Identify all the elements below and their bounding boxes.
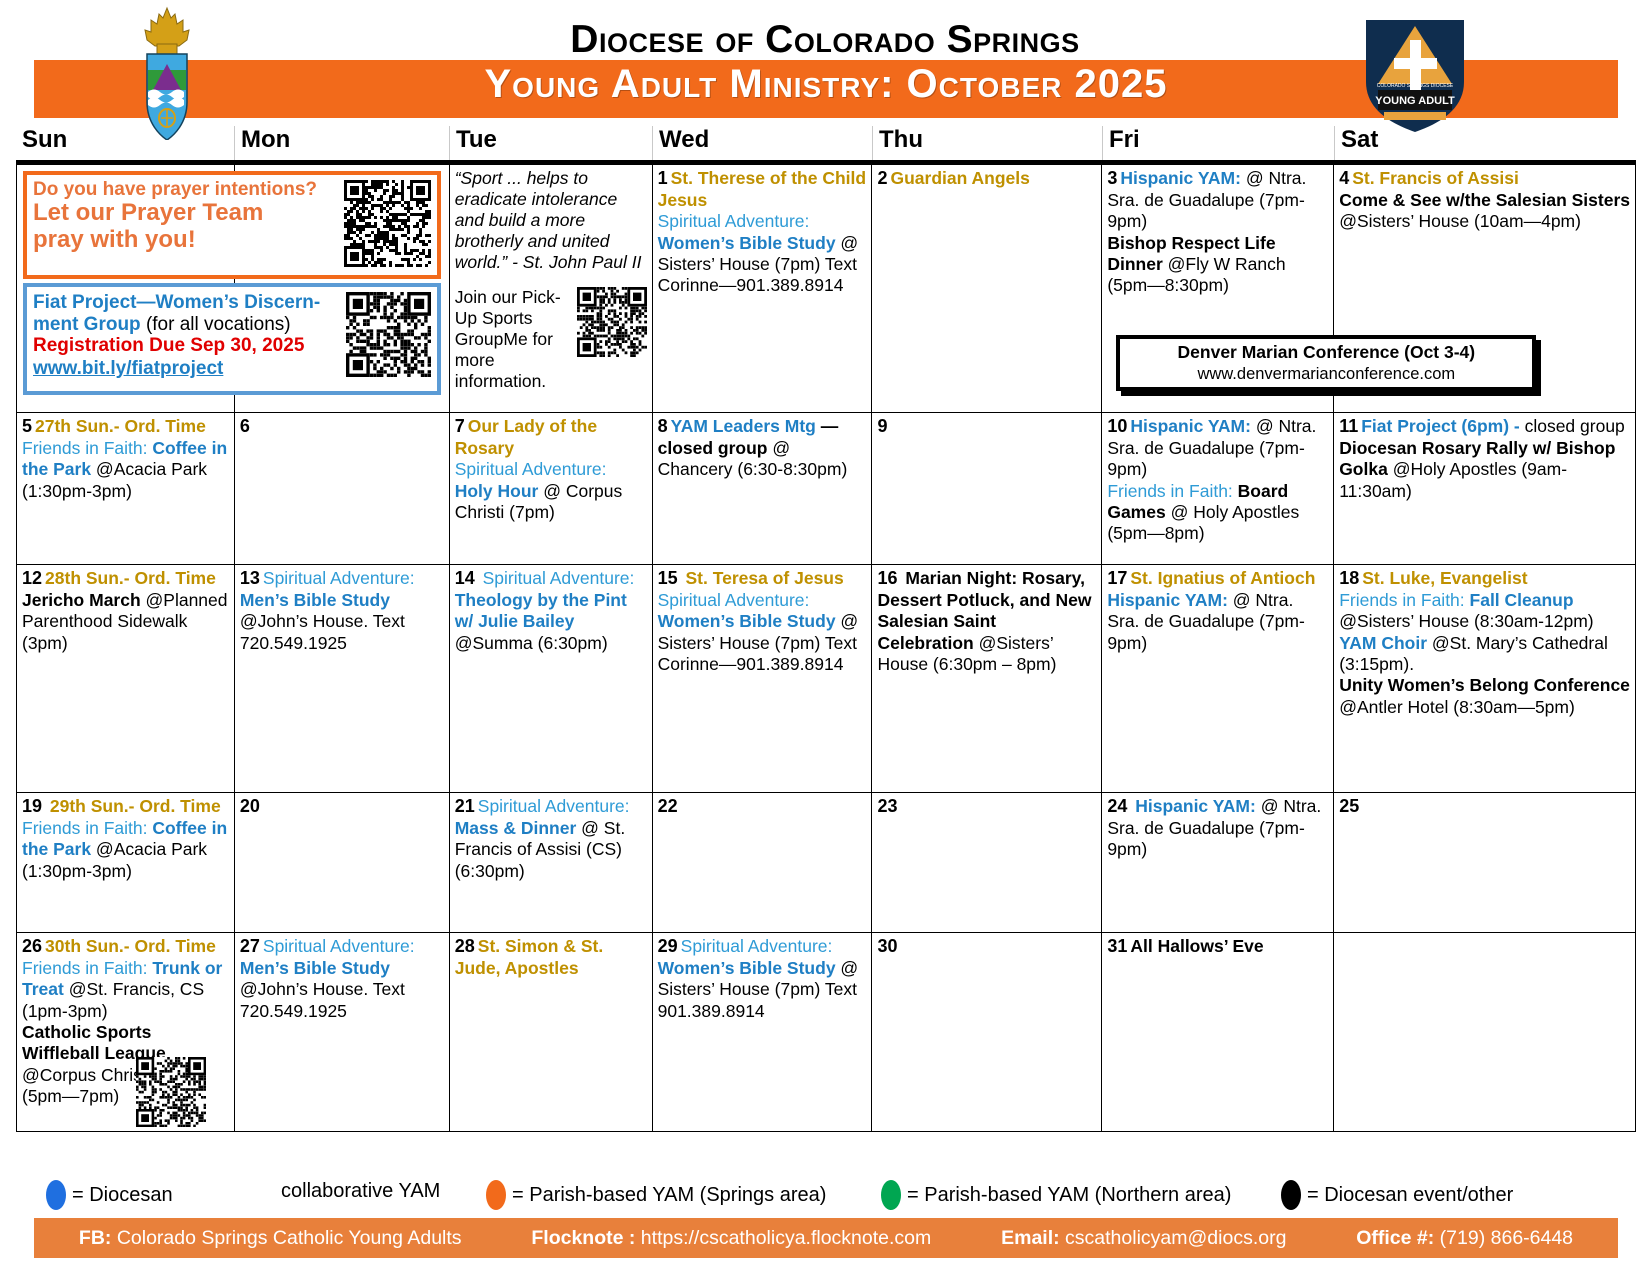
diocese-crest-icon (117, 6, 217, 140)
prayer-team-promo[interactable]: Do you have prayer intentions? Let our P… (23, 171, 441, 279)
event-line[interactable]: Hispanic YAM: @ Ntra. Sra. de Guadalupe … (1107, 168, 1306, 231)
event-line[interactable]: St. Simon & St. Jude, Apostles (455, 936, 603, 978)
event-line[interactable]: Unity Women’s Belong Conference @Antler … (1339, 675, 1630, 716)
weekday-sat: Sat (1334, 126, 1636, 160)
day-cell-31[interactable]: 31All Hallows’ Eve (1102, 933, 1334, 1132)
day-cell-empty[interactable]: “Sport ... helps to eradicate intoleranc… (450, 165, 653, 413)
fiat-project-promo[interactable]: Fiat Project—Women’s Discern- ment Group… (23, 283, 441, 395)
day-cell-23[interactable]: 23 (872, 793, 1102, 933)
event-text-segment: All Hallows’ Eve (1130, 936, 1263, 956)
pickup-sports-qr-code[interactable] (577, 287, 647, 357)
prayer-promo-line3: pray with you! (33, 227, 344, 254)
day-cell-empty[interactable]: Do you have prayer intentions? Let our P… (17, 165, 235, 413)
day-number: 31 (1107, 936, 1127, 956)
day-number: 1 (658, 168, 668, 188)
event-line[interactable]: Our Lady of the Rosary (455, 416, 597, 458)
footer-office-label: Office #: (1356, 1227, 1434, 1249)
event-text-segment: 29th Sun.- Ord. Time (45, 796, 221, 816)
event-line[interactable]: St. Teresa of Jesus (681, 568, 844, 588)
legend-label: = Parish-based YAM (Springs area) (512, 1184, 826, 1207)
event-line[interactable]: Spiritual Adventure: Women’s Bible Study… (658, 211, 859, 295)
legend-label: collaborative YAM (281, 1180, 440, 1203)
legend-color-dot (881, 1180, 901, 1210)
event-line[interactable]: 28th Sun.- Ord. Time (45, 568, 216, 588)
day-cell-18[interactable]: 18St. Luke, EvangelistFriends in Faith: … (1334, 565, 1636, 793)
fiat-link[interactable]: www.bit.ly/fiatproject (33, 358, 346, 381)
event-text-segment: Fiat Project (6pm) - (1361, 416, 1520, 436)
day-number: 22 (658, 796, 678, 816)
day-number: 13 (240, 568, 260, 588)
event-text-segment: Friends in Faith: (1107, 481, 1237, 501)
day-number: 18 (1339, 568, 1359, 588)
weekday-tue: Tue (449, 126, 652, 160)
legend-item-3: = Parish-based YAM (Northern area) (881, 1180, 1231, 1210)
day-number: 15 (658, 568, 678, 588)
young-adult-shield-icon: YOUNG ADULT COLORADO SPRINGS DIOCESE (1360, 14, 1470, 132)
promo-stack: Do you have prayer intentions? Let our P… (23, 171, 441, 391)
prayer-promo-line2: Let our Prayer Team (33, 200, 344, 227)
footer-fb-value: Colorado Springs Catholic Young Adults (111, 1227, 461, 1249)
event-text-segment: Spiritual Adventure: (478, 568, 635, 588)
event-line[interactable]: Friends in Faith: Trunk or Treat @St. Fr… (22, 958, 222, 1021)
day-cell-6[interactable]: 6 (235, 413, 450, 565)
day-cell-empty[interactable] (1334, 933, 1636, 1132)
day-number: 20 (240, 796, 260, 816)
event-line[interactable]: YAM Choir @St. Mary’s Cathedral (3:15pm)… (1339, 633, 1608, 674)
dmc-title: Denver Marian Conference (Oct 3-4) (1178, 342, 1476, 363)
wiffleball-qr-code[interactable] (136, 1057, 206, 1127)
event-text-segment: Men’s Bible Study (240, 958, 390, 978)
day-cell-24[interactable]: 24 Hispanic YAM: @ Ntra. Sra. de Guadalu… (1102, 793, 1334, 933)
event-text-segment: Fall Cleanup (1470, 590, 1574, 610)
day-cell-11[interactable]: 11Fiat Project (6pm) - closed groupDioce… (1334, 413, 1636, 565)
event-line[interactable]: Spiritual Adventure: Mass & Dinner @ St.… (455, 796, 630, 881)
event-line[interactable]: Bishop Respect Life Dinner @Fly W Ranch … (1107, 233, 1285, 296)
event-line[interactable]: Spiritual Adventure: Holy Hour @ Corpus … (455, 459, 623, 522)
event-text-segment: Friends in Faith: (22, 438, 152, 458)
event-text-segment: Spiritual Adventure: (658, 590, 810, 610)
day-number: 3 (1107, 168, 1117, 188)
day-number: 8 (658, 416, 668, 436)
weekday-thu: Thu (872, 126, 1102, 160)
fiat-registration: Registration Due Sep 30, 2025 (33, 335, 346, 358)
event-line[interactable]: Friends in Faith: Coffee in the Park @Ac… (22, 438, 227, 501)
day-number: 24 (1107, 796, 1127, 816)
day-number: 17 (1107, 568, 1127, 588)
day-number: 2 (877, 168, 887, 188)
footer-facebook: FB: Colorado Springs Catholic Young Adul… (79, 1227, 462, 1250)
event-line[interactable]: Come & See w/the Salesian Sisters @Siste… (1339, 190, 1630, 231)
fiat-project-qr-code[interactable] (346, 292, 431, 377)
calendar-page: Diocese of Colorado Springs Young Adult … (0, 0, 1650, 1275)
fiat-title: Fiat Project—Women’s Discern- (33, 292, 346, 314)
day-cell-14[interactable]: 14 Spiritual Adventure: Theology by the … (450, 565, 653, 793)
event-text-segment: Spiritual Adventure: (263, 568, 415, 588)
event-text-segment: 28th Sun.- Ord. Time (45, 568, 216, 588)
day-number: 29 (658, 936, 678, 956)
legend-label: = Diocesan (72, 1184, 173, 1207)
legend: = Diocesancollaborative YAM= Parish-base… (16, 1176, 1636, 1216)
day-cell-28[interactable]: 28St. Simon & St. Jude, Apostles (450, 933, 653, 1132)
event-text-segment: closed group (1520, 416, 1625, 436)
day-number: 16 (877, 568, 897, 588)
calendar-week-row: 19 29th Sun.- Ord. TimeFriends in Faith:… (17, 793, 1636, 933)
event-text-segment: Hispanic YAM: (1130, 416, 1255, 436)
day-cell-10[interactable]: 10Hispanic YAM: @ Ntra. Sra. de Guadalup… (1102, 413, 1334, 565)
event-text-segment: Spiritual Adventure: (681, 936, 833, 956)
calendar-week-row: 527th Sun.- Ord. TimeFriends in Faith: C… (17, 413, 1636, 565)
event-text-segment: YAM Choir (1339, 633, 1427, 653)
event-line[interactable]: St. Ignatius of Antioch (1130, 568, 1315, 588)
event-line[interactable]: Hispanic YAM: @ Ntra. Sra. de Guadalupe … (1107, 590, 1304, 653)
event-text-segment: Spiritual Adventure: (455, 459, 607, 479)
legend-color-dot (1281, 1180, 1301, 1210)
event-line[interactable]: Jericho March @Planned Parenthood Sidewa… (22, 590, 228, 653)
event-text-segment: Come & See w/the Salesian Sisters (1339, 190, 1630, 210)
prayer-team-qr-code[interactable] (344, 180, 431, 267)
event-line[interactable]: Diocesan Rosary Rally w/ Bishop Golka @H… (1339, 438, 1615, 501)
legend-color-dot (486, 1180, 506, 1210)
svg-text:YOUNG ADULT: YOUNG ADULT (1375, 95, 1455, 107)
footer-office-value: (719) 866-6448 (1434, 1227, 1573, 1249)
footer-flocknote-value[interactable]: https://cscatholicya.flocknote.com (635, 1227, 931, 1249)
event-text-segment: 27th Sun.- Ord. Time (35, 416, 206, 436)
footer-flocknote: Flocknote : https://cscatholicya.flockno… (531, 1227, 931, 1250)
event-line[interactable]: Friends in Faith: Fall Cleanup @Sisters’… (1339, 590, 1593, 631)
event-text-segment: Theology by the Pint w/ Julie Bailey (455, 590, 627, 631)
legend-item-2: = Parish-based YAM (Springs area) (486, 1180, 826, 1210)
weekday-wed: Wed (652, 126, 872, 160)
day-number: 7 (455, 416, 465, 436)
day-cell-8[interactable]: 8YAM Leaders Mtg — closed group @ Chance… (653, 413, 873, 565)
weekday-header-row: Sun Mon Tue Wed Thu Fri Sat (16, 126, 1636, 160)
event-text-segment: St. Therese of the Child Jesus (658, 168, 866, 210)
event-line[interactable]: Guardian Angels (890, 168, 1029, 188)
day-cell-29[interactable]: 29Spiritual Adventure: Women’s Bible Stu… (653, 933, 873, 1132)
day-number: 10 (1107, 416, 1127, 436)
event-text-segment: St. Ignatius of Antioch (1130, 568, 1315, 588)
event-text-segment: Spiritual Adventure: (478, 796, 630, 816)
contact-footer: FB: Colorado Springs Catholic Young Adul… (34, 1218, 1618, 1258)
day-cell-5[interactable]: 527th Sun.- Ord. TimeFriends in Faith: C… (17, 413, 235, 565)
weekday-sun: Sun (16, 126, 234, 160)
day-cell-19[interactable]: 19 29th Sun.- Ord. TimeFriends in Faith:… (17, 793, 235, 933)
event-text-segment: Women’s Bible Study (658, 233, 836, 253)
day-number: 27 (240, 936, 260, 956)
event-line[interactable]: Hispanic YAM: @ Ntra. Sra. de Guadalupe … (1107, 416, 1316, 479)
footer-office: Office #: (719) 866-6448 (1356, 1227, 1573, 1250)
svg-text:COLORADO SPRINGS DIOCESE: COLORADO SPRINGS DIOCESE (1377, 83, 1454, 89)
legend-item-0: = Diocesan (46, 1180, 173, 1210)
day-number: 5 (22, 416, 32, 436)
event-text-segment: St. Teresa of Jesus (681, 568, 844, 588)
day-cell-12[interactable]: 1228th Sun.- Ord. TimeJericho March @Pla… (17, 565, 235, 793)
day-number: 9 (877, 416, 887, 436)
event-text-segment: Women’s Bible Study (658, 958, 836, 978)
day-number: 12 (22, 568, 42, 588)
day-cell-17[interactable]: 17St. Ignatius of AntiochHispanic YAM: @… (1102, 565, 1334, 793)
event-line[interactable]: Spiritual Adventure: Women’s Bible Study… (658, 590, 859, 674)
calendar-week-row: 1228th Sun.- Ord. TimeJericho March @Pla… (17, 565, 1636, 793)
event-text-segment: St. Luke, Evangelist (1362, 568, 1527, 588)
day-cell-13[interactable]: 13Spiritual Adventure: Men’s Bible Study… (235, 565, 450, 793)
day-cell-21[interactable]: 21Spiritual Adventure: Mass & Dinner @ S… (450, 793, 653, 933)
event-text-segment: @Sisters’ House (8:30am-12pm) (1339, 611, 1593, 631)
day-cell-2[interactable]: 2Guardian Angels (872, 165, 1102, 413)
day-cell-16[interactable]: 16 Marian Night: Rosary, Dessert Potluck… (872, 565, 1102, 793)
event-text-segment: Hispanic YAM: (1130, 796, 1260, 816)
event-text-segment: Women’s Bible Study (658, 611, 836, 631)
event-text-segment: 30th Sun.- Ord. Time (45, 936, 216, 956)
day-cell-26[interactable]: 2630th Sun.- Ord. TimeFriends in Faith: … (17, 933, 235, 1132)
day-cell-20[interactable]: 20 (235, 793, 450, 933)
footer-email-label: Email: (1001, 1227, 1060, 1249)
prayer-promo-line1: Do you have prayer intentions? (33, 180, 344, 200)
legend-label: = Diocesan event/other (1307, 1184, 1513, 1207)
legend-item-4: = Diocesan event/other (1281, 1180, 1513, 1210)
day-number: 23 (877, 796, 897, 816)
event-line[interactable]: Friends in Faith: Coffee in the Park @Ac… (22, 818, 227, 881)
day-cell-22[interactable]: 22 (653, 793, 873, 933)
day-cell-7[interactable]: 7Our Lady of the RosarySpiritual Adventu… (450, 413, 653, 565)
event-line[interactable]: St. Therese of the Child Jesus (658, 168, 866, 210)
footer-fb-label: FB: (79, 1227, 112, 1249)
event-text-segment: @Antler Hotel (8:30am—5pm) (1339, 697, 1575, 717)
pickup-sports-block: Join our Pick-Up Sports GroupMe for more… (455, 287, 647, 392)
event-text-segment: St. Simon & St. Jude, Apostles (455, 936, 603, 978)
day-cell-30[interactable]: 30 (872, 933, 1102, 1132)
day-number: 30 (877, 936, 897, 956)
event-line[interactable]: Spiritual Adventure: Men’s Bible Study @… (240, 936, 415, 1021)
event-text-segment: Holy Hour (455, 481, 539, 501)
event-text-segment: Jericho March (22, 590, 141, 610)
event-line[interactable]: Hispanic YAM: @ Ntra. Sra. de Guadalupe … (1107, 796, 1321, 859)
event-text-segment: Hispanic YAM: (1107, 590, 1232, 610)
day-number: 11 (1339, 416, 1358, 436)
event-line[interactable]: St. Francis of Assisi (1352, 168, 1519, 188)
event-line[interactable]: Friends in Faith: Board Games @ Holy Apo… (1107, 481, 1299, 544)
fiat-title2: ment Group (for all vocations) (33, 314, 346, 336)
event-line[interactable]: All Hallows’ Eve (1130, 936, 1263, 956)
event-text-segment: Unity Women’s Belong Conference (1339, 675, 1630, 695)
pickup-sports-text: Join our Pick-Up Sports GroupMe for more… (455, 287, 577, 392)
event-text-segment: Men’s Bible Study (240, 590, 390, 610)
event-line[interactable]: Marian Night: Rosary, Dessert Potluck, a… (877, 568, 1091, 674)
weekday-fri: Fri (1102, 126, 1334, 160)
legend-item-1: collaborative YAM (281, 1180, 440, 1203)
day-number: 4 (1339, 168, 1349, 188)
event-text-segment: YAM Leaders Mtg (671, 416, 816, 436)
event-text-segment: Friends in Faith: (22, 958, 152, 978)
event-text-segment: @Summa (6:30pm) (455, 633, 608, 653)
event-line[interactable]: Fiat Project (6pm) - closed group (1361, 416, 1625, 436)
legend-color-dot (46, 1180, 66, 1210)
day-cell-9[interactable]: 9 (872, 413, 1102, 565)
event-text-segment: @John’s House. Text 720.549.1925 (240, 979, 405, 1020)
event-text-segment: Spiritual Adventure: (658, 211, 810, 231)
event-line[interactable]: Spiritual Adventure: Theology by the Pin… (455, 568, 635, 653)
event-text-segment: Our Lady of the Rosary (455, 416, 597, 458)
footer-email-value[interactable]: cscatholicyam@diocs.org (1060, 1227, 1287, 1249)
event-text-segment: St. Francis of Assisi (1352, 168, 1519, 188)
event-line[interactable]: St. Luke, Evangelist (1362, 568, 1527, 588)
day-cell-25[interactable]: 25 (1334, 793, 1636, 933)
event-line[interactable]: Spiritual Adventure: Women’s Bible Study… (658, 936, 859, 1021)
jp2-quote: “Sport ... helps to eradicate intoleranc… (455, 168, 647, 273)
day-number: 19 (22, 796, 42, 816)
event-line[interactable]: 30th Sun.- Ord. Time (45, 936, 216, 956)
event-line[interactable]: YAM Leaders Mtg — closed group @ Chancer… (658, 416, 848, 479)
legend-label: = Parish-based YAM (Northern area) (907, 1184, 1231, 1207)
calendar-grid: Do you have prayer intentions? Let our P… (16, 160, 1636, 1132)
calendar-week-row: Do you have prayer intentions? Let our P… (17, 165, 1636, 413)
event-text-segment: @John’s House. Text 720.549.1925 (240, 611, 405, 652)
event-text-segment: Guardian Angels (890, 168, 1029, 188)
event-text-segment: Hispanic YAM: (1120, 168, 1245, 188)
day-number: 26 (22, 936, 42, 956)
day-number: 6 (240, 416, 250, 436)
event-line[interactable]: 29th Sun.- Ord. Time (45, 796, 221, 816)
page-header: Diocese of Colorado Springs Young Adult … (0, 0, 1650, 128)
event-text-segment: Mass & Dinner (455, 818, 577, 838)
day-cell-27[interactable]: 27Spiritual Adventure: Men’s Bible Study… (235, 933, 450, 1132)
event-line[interactable]: Spiritual Adventure: Men’s Bible Study @… (240, 568, 415, 653)
day-number: 14 (455, 568, 475, 588)
footer-flocknote-label: Flocknote : (531, 1227, 635, 1249)
day-number: 28 (455, 936, 475, 956)
dmc-url[interactable]: www.denvermarianconference.com (1197, 364, 1455, 384)
event-text-segment: Friends in Faith: (1339, 590, 1469, 610)
weekday-mon: Mon (234, 126, 449, 160)
day-cell-3[interactable]: 3Hispanic YAM: @ Ntra. Sra. de Guadalupe… (1102, 165, 1334, 413)
calendar-week-row: 2630th Sun.- Ord. TimeFriends in Faith: … (17, 933, 1636, 1132)
event-text-segment: Spiritual Adventure: (263, 936, 415, 956)
event-text-segment: Friends in Faith: (22, 818, 152, 838)
event-text-segment: @Sisters’ House (10am—4pm) (1339, 211, 1581, 231)
denver-marian-conference-box[interactable]: Denver Marian Conference (Oct 3-4) www.d… (1116, 335, 1536, 391)
event-line[interactable]: 27th Sun.- Ord. Time (35, 416, 206, 436)
footer-email: Email: cscatholicyam@diocs.org (1001, 1227, 1286, 1250)
day-number: 21 (455, 796, 475, 816)
day-number: 25 (1339, 796, 1359, 816)
day-cell-1[interactable]: 1St. Therese of the Child JesusSpiritual… (653, 165, 873, 413)
day-cell-15[interactable]: 15 St. Teresa of JesusSpiritual Adventur… (653, 565, 873, 793)
